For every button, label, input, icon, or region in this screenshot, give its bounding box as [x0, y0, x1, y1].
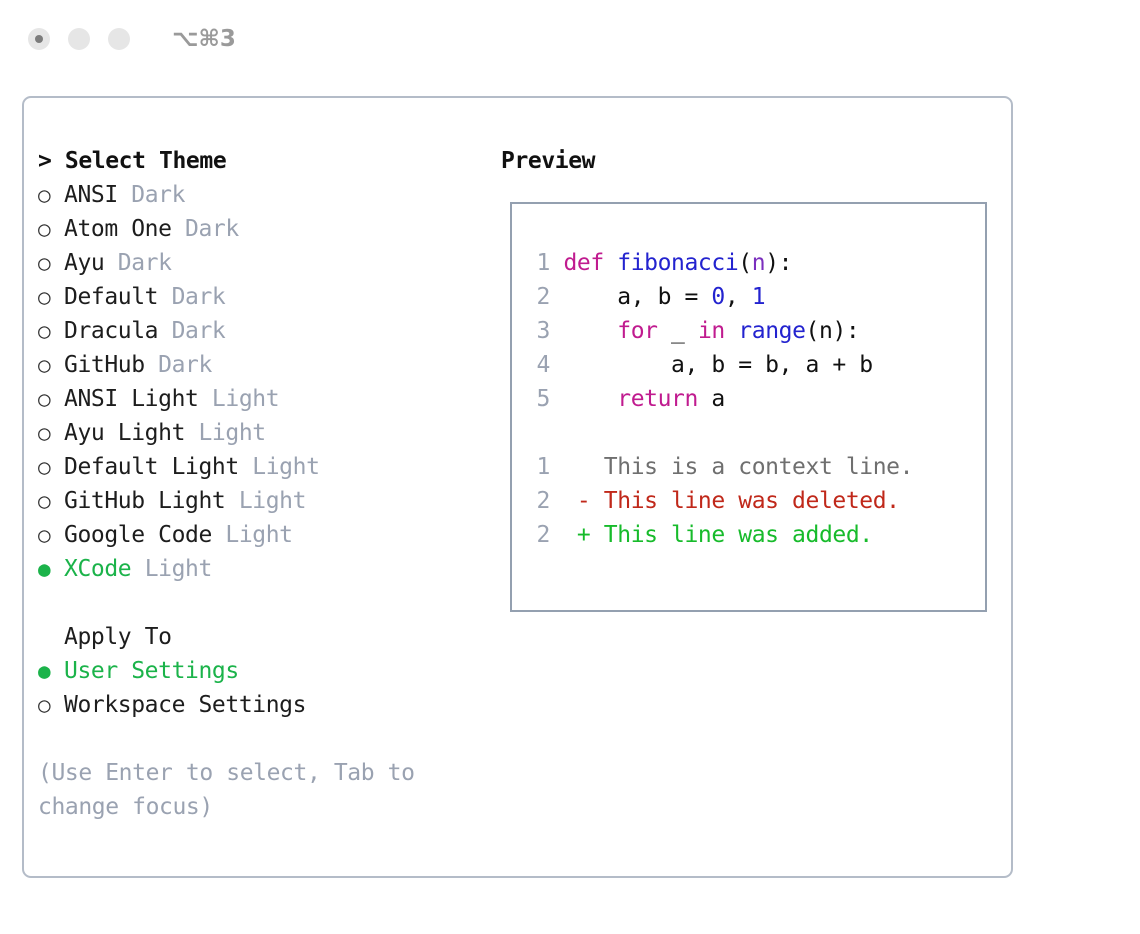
code-line: 5 return a	[524, 382, 913, 416]
window-dot-2-icon[interactable]	[68, 28, 90, 50]
radio-unselected-icon: ○	[38, 314, 64, 348]
line-number: 4	[524, 348, 550, 382]
theme-list-item[interactable]: ○GitHub Light Light	[38, 484, 488, 518]
window-controls	[28, 28, 130, 50]
keyboard-hint: (Use Enter to select, Tab to change focu…	[38, 756, 438, 824]
theme-variant-badge: Dark	[145, 348, 212, 382]
panel-columns: > Select Theme ○ANSI Dark○Atom One Dark○…	[24, 98, 1011, 876]
line-number: 2	[524, 518, 550, 552]
theme-variant-badge: Light	[239, 450, 320, 484]
theme-variant-badge: Dark	[118, 178, 185, 212]
apply-to-item[interactable]: ○Workspace Settings	[38, 688, 488, 722]
apply-to-label: User Settings	[64, 654, 239, 688]
radio-unselected-icon: ○	[38, 280, 64, 314]
line-number: 1	[524, 246, 550, 280]
select-theme-heading: > Select Theme	[38, 144, 488, 178]
theme-list-item[interactable]: ○ANSI Light Light	[38, 382, 488, 416]
code-token: 1	[752, 284, 765, 310]
radio-unselected-icon: ○	[38, 382, 64, 416]
theme-list-item[interactable]: ○Default Light Light	[38, 450, 488, 484]
code-token: - This line was deleted.	[563, 488, 899, 514]
radio-unselected-icon: ○	[38, 178, 64, 212]
code-blank-line	[524, 416, 913, 450]
theme-name: Default	[64, 280, 158, 314]
code-token: for	[617, 318, 657, 344]
code-line: 1 def fibonacci(n):	[524, 246, 913, 280]
preview-code: 1 def fibonacci(n):2 a, b = 0, 13 for _ …	[524, 246, 913, 552]
theme-selector-column: > Select Theme ○ANSI Dark○Atom One Dark○…	[38, 144, 488, 824]
theme-variant-badge: Dark	[158, 314, 225, 348]
code-token: ):	[765, 250, 792, 276]
code-line: 4 a, b = b, a + b	[524, 348, 913, 382]
theme-list-item[interactable]: ●XCode Light	[38, 552, 488, 586]
theme-variant-badge: Dark	[104, 246, 171, 280]
theme-list-item[interactable]: ○Ayu Light Light	[38, 416, 488, 450]
diff-line: 1 This is a context line.	[524, 450, 913, 484]
apply-to-heading: Apply To	[64, 620, 172, 654]
preview-box: 1 def fibonacci(n):2 a, b = 0, 13 for _ …	[510, 202, 987, 612]
diff-line: 2 - This line was deleted.	[524, 484, 913, 518]
theme-name: ANSI Light	[64, 382, 198, 416]
code-token: a, b = b, a + b	[563, 352, 872, 378]
code-token: return	[617, 386, 698, 412]
code-token: fibonacci	[617, 250, 738, 276]
code-token: 0	[711, 284, 724, 310]
line-number: 1	[524, 450, 550, 484]
theme-list-item[interactable]: ○Atom One Dark	[38, 212, 488, 246]
line-number: 2	[524, 484, 550, 518]
apply-to-label: Workspace Settings	[64, 688, 306, 722]
code-token: a	[698, 386, 725, 412]
radio-unselected-icon: ○	[38, 688, 64, 722]
theme-name: GitHub	[64, 348, 145, 382]
radio-unselected-icon: ○	[38, 484, 64, 518]
theme-list-item[interactable]: ○GitHub Dark	[38, 348, 488, 382]
radio-unselected-icon: ○	[38, 450, 64, 484]
theme-name: Google Code	[64, 518, 212, 552]
theme-variant-badge: Light	[198, 382, 279, 416]
theme-name: GitHub Light	[64, 484, 225, 518]
theme-list-item[interactable]: ○Default Dark	[38, 280, 488, 314]
code-token: a, b =	[563, 284, 711, 310]
theme-name: Ayu Light	[64, 416, 185, 450]
window-titlebar: ⌥⌘3	[0, 0, 1140, 78]
theme-list-item[interactable]: ○Dracula Dark	[38, 314, 488, 348]
preview-column: Preview 1 def fibonacci(n):2 a, b = 0, 1…	[501, 144, 1001, 178]
window-dot-active-icon[interactable]	[28, 28, 50, 50]
theme-list-item[interactable]: ○Google Code Light	[38, 518, 488, 552]
code-token: in	[698, 318, 725, 344]
theme-name: XCode	[64, 552, 131, 586]
code-token: def	[563, 250, 617, 276]
theme-name: Dracula	[64, 314, 158, 348]
code-line: 3 for _ in range(n):	[524, 314, 913, 348]
code-token: _	[658, 318, 698, 344]
line-number: 2	[524, 280, 550, 314]
radio-unselected-icon: ○	[38, 518, 64, 552]
radio-selected-icon: ●	[38, 654, 64, 688]
code-token: + This line was added.	[563, 522, 872, 548]
code-token: (n):	[806, 318, 860, 344]
line-number: 5	[524, 382, 550, 416]
theme-variant-badge: Light	[225, 484, 306, 518]
line-number: 3	[524, 314, 550, 348]
radio-selected-icon: ●	[38, 552, 64, 586]
theme-variant-badge: Light	[185, 416, 266, 450]
theme-variant-badge: Dark	[158, 280, 225, 314]
code-token: n	[752, 250, 765, 276]
theme-variant-badge: Dark	[172, 212, 239, 246]
apply-to-item[interactable]: ●User Settings	[38, 654, 488, 688]
window-dot-inner-icon	[35, 35, 43, 43]
section-spacer	[38, 586, 488, 620]
theme-name: Atom One	[64, 212, 172, 246]
theme-variant-badge: Light	[212, 518, 293, 552]
theme-list-item[interactable]: ○Ayu Dark	[38, 246, 488, 280]
code-token	[563, 386, 617, 412]
theme-variant-badge: Light	[131, 552, 212, 586]
code-token: This is a context line.	[563, 454, 913, 480]
code-token: ,	[725, 284, 752, 310]
radio-unselected-icon: ○	[38, 416, 64, 450]
theme-name: Default Light	[64, 450, 239, 484]
theme-name: ANSI	[64, 178, 118, 212]
theme-list: ○ANSI Dark○Atom One Dark○Ayu Dark○Defaul…	[38, 178, 488, 586]
keyboard-shortcut-label: ⌥⌘3	[172, 26, 236, 52]
radio-unselected-icon: ○	[38, 246, 64, 280]
code-line: 2 a, b = 0, 1	[524, 280, 913, 314]
theme-name: Ayu	[64, 246, 104, 280]
code-token	[725, 318, 738, 344]
diff-line: 2 + This line was added.	[524, 518, 913, 552]
code-token: range	[738, 318, 805, 344]
code-token: (	[738, 250, 751, 276]
preview-heading: Preview	[501, 144, 1001, 178]
window-dot-3-icon[interactable]	[108, 28, 130, 50]
apply-to-list: ●User Settings○Workspace Settings	[38, 654, 488, 722]
main-panel: > Select Theme ○ANSI Dark○Atom One Dark○…	[22, 96, 1013, 878]
radio-unselected-icon: ○	[38, 212, 64, 246]
theme-list-item[interactable]: ○ANSI Dark	[38, 178, 488, 212]
code-token	[563, 318, 617, 344]
radio-unselected-icon: ○	[38, 348, 64, 382]
apply-to-heading-row: Apply To	[38, 620, 488, 654]
